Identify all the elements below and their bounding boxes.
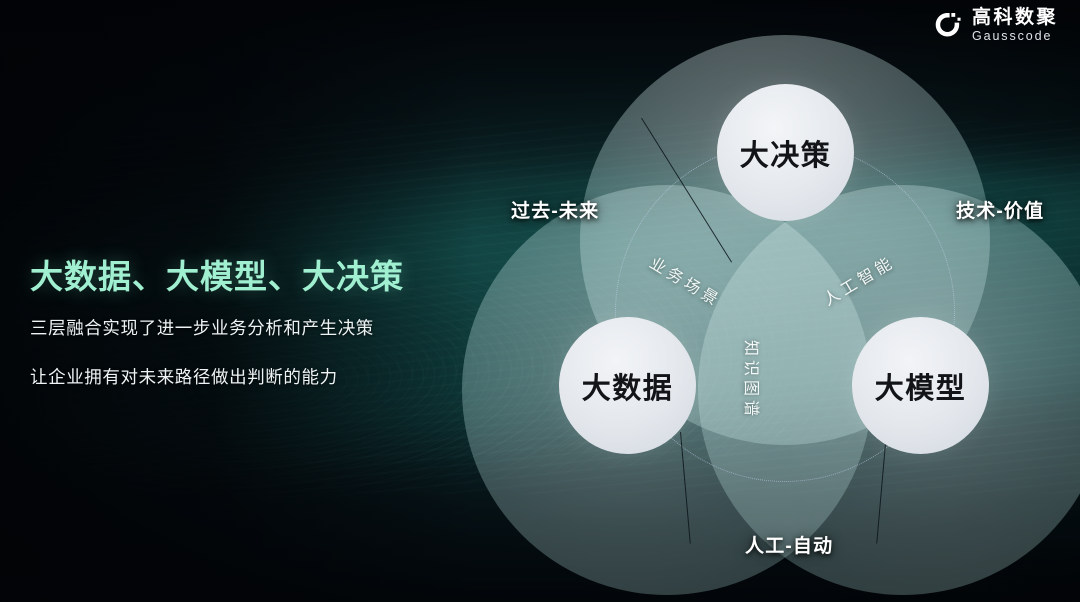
venn-label-bottom-left: 大数据	[559, 317, 696, 454]
venn-overlap-label-bottom: 知识图谱	[741, 340, 765, 420]
venn-axis-label-left: 过去-未来	[511, 196, 599, 223]
venn-axis-label-bottom: 人工-自动	[745, 531, 833, 558]
venn-label-top: 大决策	[717, 84, 854, 221]
slide-canvas: 高科数聚 Gausscode 大数据、大模型、大决策 三层融合实现了进一步业务分…	[0, 0, 1080, 602]
venn-diagram: 大决策 大数据 大模型 业务场景 人工智能 知识图谱 过去-未来 技术-价值 人…	[0, 0, 1080, 602]
venn-axis-label-right: 技术-价值	[956, 196, 1044, 223]
venn-label-bottom-right: 大模型	[852, 317, 989, 454]
